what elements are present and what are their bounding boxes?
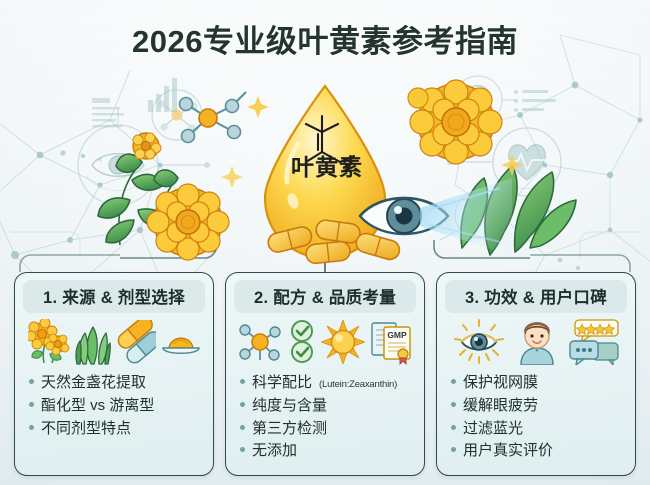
list-item: 无添加 [240,440,416,463]
sun-icon [321,320,365,364]
card-1-icon-row [23,316,205,368]
bullet-text: 酯化型 vs 游离型 [41,395,154,418]
card-1-header: 1. 来源 & 剂型选择 [23,280,205,313]
card-row: 1. 来源 & 剂型选择 [14,272,636,476]
hero-molecule-atoms [180,98,241,143]
list-item: 用户真实评价 [451,440,627,463]
bullet-text: 缓解眼疲劳 [463,395,538,418]
infographic-page: 2026专业级叶黄素参考指南 [0,0,650,485]
bullet-text: 不同剂型特点 [41,418,131,441]
card-formula-quality[interactable]: 2. 配方 & 品质考量 [225,272,425,476]
person-avatar-icon [517,319,557,365]
bullet-dot [451,447,456,452]
card-2-icon-row: GMP [234,316,416,368]
bullet-text: 过滤蓝光 [463,418,523,441]
hero-marigold-large-left [147,184,229,260]
capsule-icon [116,320,156,364]
page-title: 2026专业级叶黄素参考指南 [0,16,650,61]
gmp-badge-text: GMP [387,330,407,340]
seaweed-icon [75,319,111,365]
card-source-dosage[interactable]: 1. 来源 & 剂型选择 [14,272,214,476]
bullet-text: 纯度与含量 [252,395,327,418]
bullet-dot [240,379,245,384]
list-item: 酯化型 vs 游离型 [29,395,205,418]
list-item: 过滤蓝光 [451,418,627,441]
bullet-dot [451,379,456,384]
list-item: 纯度与含量 [240,395,416,418]
review-bubbles-icon [569,319,619,365]
bullet-dot [240,425,245,430]
card-2-bullets: 科学配比 (Lutein:Zeaxanthin) 纯度与含量 第三方检测 无添加 [234,372,416,467]
gmp-certificate-icon: GMP [370,319,412,365]
card-efficacy-reviews[interactable]: 3. 功效 & 用户口碑 [436,272,636,476]
card-3-header: 3. 功效 & 用户口碑 [445,280,627,313]
bullet-text: 保护视网膜 [463,372,538,395]
card-3-icon-row [445,316,627,368]
radiant-eye-icon [453,319,505,365]
list-item: 缓解眼疲劳 [451,395,627,418]
bullet-dot [29,379,34,384]
hero-illustration: 叶黄素 [60,70,590,270]
bullet-text: 用户真实评价 [463,440,553,463]
bullet-text: 无添加 [252,440,297,463]
bullet-subtext: (Lutein:Zeaxanthin) [319,378,397,392]
bullet-dot [29,402,34,407]
list-item: 科学配比 (Lutein:Zeaxanthin) [240,372,416,395]
bullet-dot [240,402,245,407]
list-item: 保护视网膜 [451,372,627,395]
molecule-icon [238,320,282,364]
bullet-dot [240,447,245,452]
marigold-icon [28,319,70,365]
hero-marigold-small [133,133,161,159]
bullet-dot [29,425,34,430]
bullet-text: 第三方检测 [252,418,327,441]
list-item: 不同剂型特点 [29,418,205,441]
powder-dish-icon [161,322,201,362]
bullet-dot [451,425,456,430]
bullet-text: 科学配比 [252,372,312,395]
droplet-label: 叶黄素 [262,148,392,182]
card-2-header: 2. 配方 & 品质考量 [234,280,416,313]
card-3-bullets: 保护视网膜 缓解眼疲劳 过滤蓝光 用户真实评价 [445,372,627,467]
card-1-bullets: 天然金盏花提取 酯化型 vs 游离型 不同剂型特点 [23,372,205,467]
bullet-dot [451,402,456,407]
double-check-icon [287,319,317,365]
list-item: 第三方检测 [240,418,416,441]
bullet-text: 天然金盏花提取 [41,372,146,395]
list-item: 天然金盏花提取 [29,372,205,395]
